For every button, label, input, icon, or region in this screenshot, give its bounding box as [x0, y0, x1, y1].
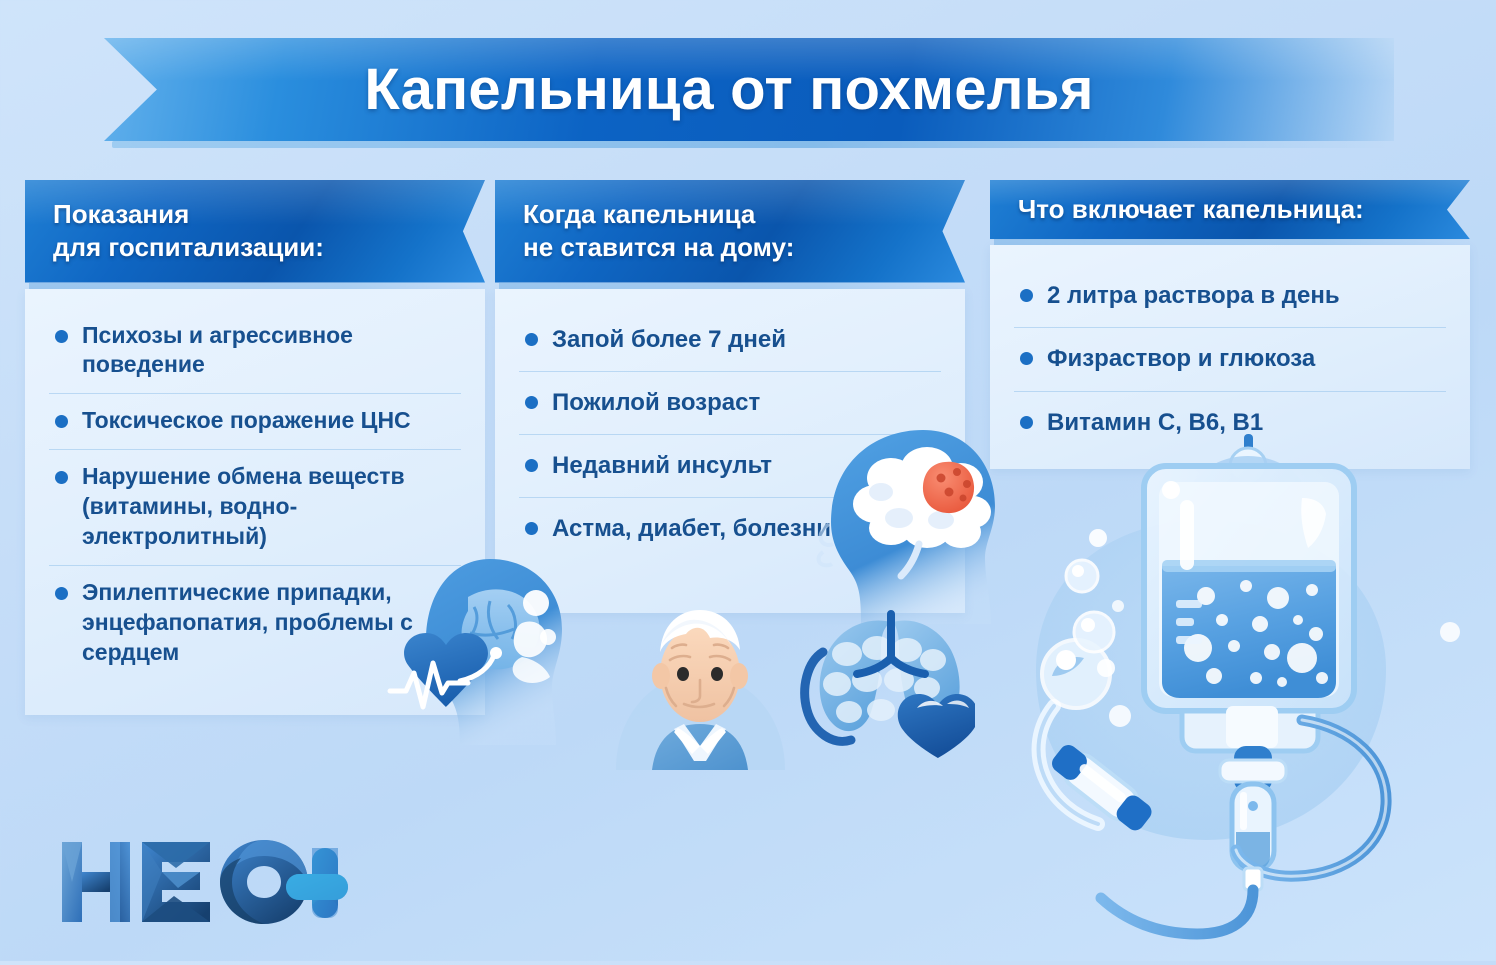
list-item: Астма, диабет, болезни сердца: [519, 498, 941, 560]
bullet-dot-icon: [55, 471, 68, 484]
infographic-root: Капельница от похмелья Показания для гос…: [0, 0, 1496, 961]
list-item-label: Астма, диабет, болезни сердца: [552, 513, 922, 544]
list-item-label: Недавний инсульт: [552, 450, 772, 481]
list-contraindications: Запой более 7 дней Пожилой возраст Недав…: [519, 309, 941, 561]
list-item: 2 литра раствора в день: [1014, 265, 1446, 328]
column-header-indications: Показания для госпитализации:: [25, 180, 485, 283]
column-contents: Что включает капельница: 2 литра раствор…: [990, 180, 1470, 469]
header-line-1: Когда капельница: [523, 198, 939, 231]
panel-contents: 2 литра раствора в день Физраствор и глю…: [990, 245, 1470, 469]
list-item: Нарушение обмена веществ (витамины, водн…: [49, 450, 461, 566]
list-indications: Психозы и агрессивное поведение Токсичес…: [49, 309, 461, 681]
list-item-label: Пожилой возраст: [552, 387, 760, 418]
elderly-person-icon: [608, 600, 793, 770]
header-line-2: для госпитализации:: [53, 231, 459, 264]
list-item: Пожилой возраст: [519, 372, 941, 435]
page-title: Капельница от похмелья: [364, 56, 1093, 123]
logo-letter-e: [142, 842, 210, 922]
header-line-1: Показания: [53, 198, 459, 231]
list-item-label: Запой более 7 дней: [552, 324, 786, 355]
bullet-dot-icon: [525, 522, 538, 535]
bullet-dot-icon: [1020, 289, 1033, 302]
iv-drip-bag-icon: [1016, 420, 1486, 960]
list-item-label: 2 литра раствора в день: [1047, 280, 1340, 311]
panel-contraindications: Запой более 7 дней Пожилой возраст Недав…: [495, 289, 965, 613]
bullet-dot-icon: [1020, 352, 1033, 365]
list-item-label: Витамин С, В6, В1: [1047, 407, 1263, 438]
bullet-dot-icon: [525, 459, 538, 472]
bullet-dot-icon: [1020, 416, 1033, 429]
list-contents: 2 литра раствора в день Физраствор и глю…: [1014, 265, 1446, 454]
list-item: Эпилептические припадки, энцефапопатия, …: [49, 566, 461, 681]
logo-letter-n: [62, 842, 130, 922]
list-item-label: Психозы и агрессивное поведение: [82, 321, 457, 381]
column-indications: Показания для госпитализации: Психозы и …: [25, 180, 485, 715]
list-item: Токсическое поражение ЦНС: [49, 394, 461, 450]
list-item-label: Токсическое поражение ЦНС: [82, 406, 411, 436]
column-header-contraindications: Когда капельница не ставится на дому:: [495, 180, 965, 283]
list-item: Витамин С, В6, В1: [1014, 392, 1446, 454]
column-header-contents: Что включает капельница:: [990, 180, 1470, 239]
bullet-dot-icon: [55, 587, 68, 600]
bullet-dot-icon: [525, 333, 538, 346]
list-item: Запой более 7 дней: [519, 309, 941, 372]
panel-indications: Психозы и агрессивное поведение Токсичес…: [25, 289, 485, 715]
header-line-2: не ставится на дому:: [523, 231, 939, 264]
bullet-dot-icon: [525, 396, 538, 409]
list-item: Физраствор и глюкоза: [1014, 328, 1446, 391]
list-item-label: Нарушение обмена веществ (витамины, водн…: [82, 462, 457, 552]
header-line-1: Что включает капельница:: [1018, 193, 1444, 226]
column-contraindications: Когда капельница не ставится на дому: За…: [495, 180, 965, 613]
banner-underline: [112, 141, 1388, 148]
lungs-heart-icon: [795, 608, 975, 758]
list-item-label: Физраствор и глюкоза: [1047, 343, 1315, 374]
list-item-label: Эпилептические припадки, энцефапопатия, …: [82, 578, 457, 668]
list-item: Недавний инсульт: [519, 435, 941, 498]
list-item: Психозы и агрессивное поведение: [49, 309, 461, 395]
logo-neo-plus: [58, 836, 348, 928]
title-banner: Капельница от похмелья: [104, 38, 1394, 141]
bullet-dot-icon: [55, 415, 68, 428]
bullet-dot-icon: [55, 330, 68, 343]
